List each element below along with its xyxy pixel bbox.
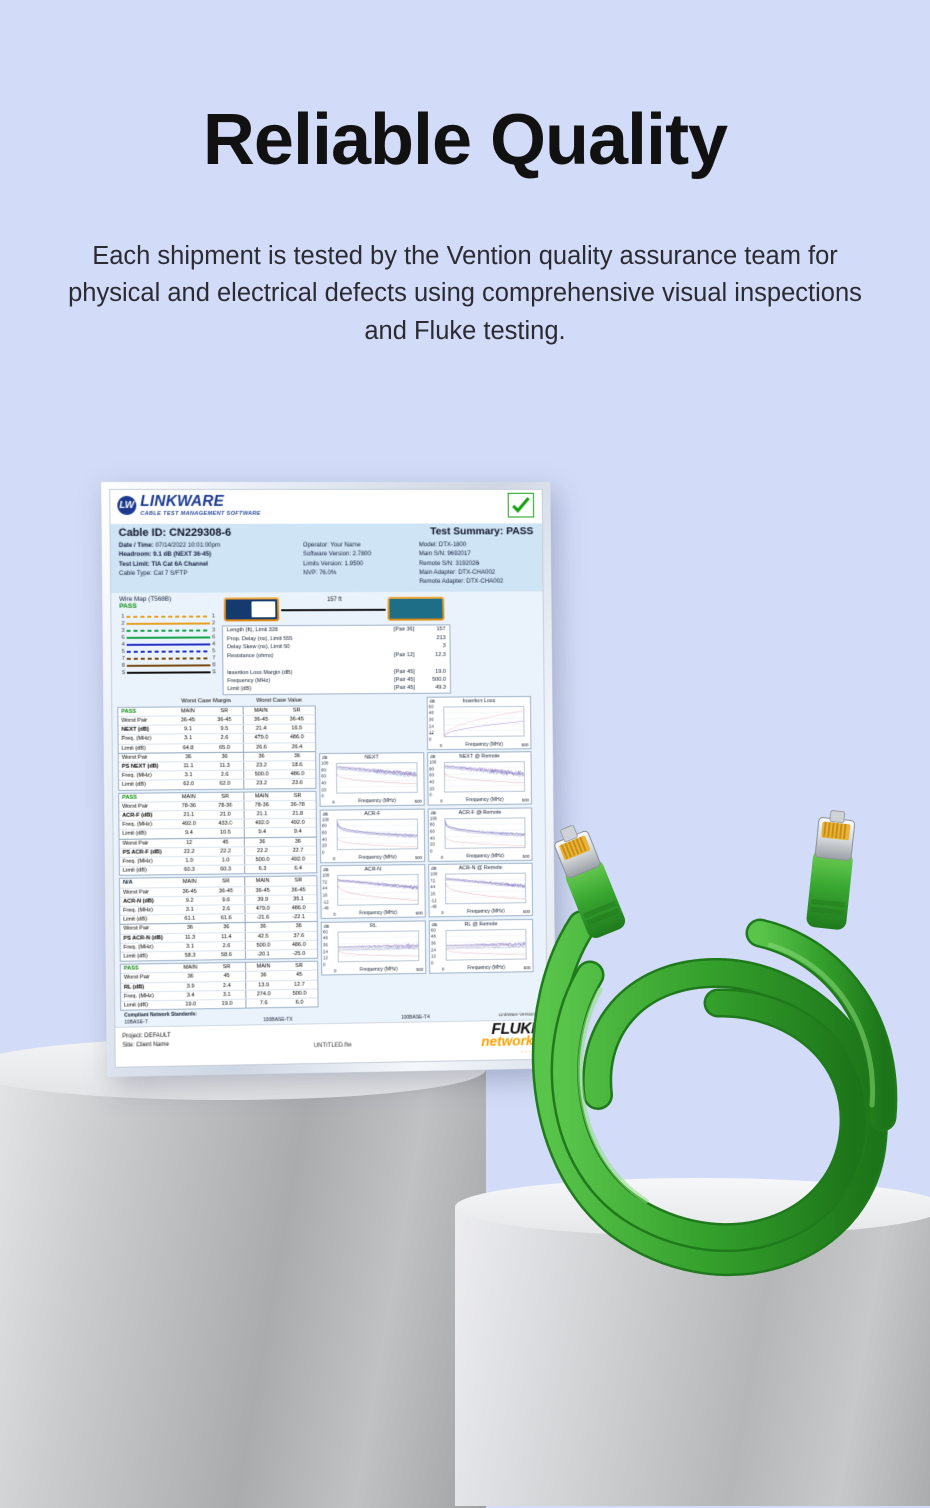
cell-value: 13.9 xyxy=(245,981,281,990)
y-axis-tick: -40 xyxy=(323,906,329,911)
podium-left xyxy=(0,1068,486,1508)
x-axis-tick-min: 0 xyxy=(333,912,335,917)
cell-value: 36 xyxy=(208,923,244,932)
column-header: SR xyxy=(279,791,315,800)
cell-value: 11.4 xyxy=(208,933,244,942)
plot-area xyxy=(336,762,418,794)
cell-value: 61.1 xyxy=(172,915,208,924)
linkware-badge-icon: LW xyxy=(117,496,136,515)
wiremap-pin-left: 3 xyxy=(120,628,127,634)
cell-value: 19.0 xyxy=(209,1000,245,1009)
summary-pair: [Pair 45] xyxy=(381,676,414,685)
chart-title: RL xyxy=(322,922,425,929)
cell-value: 1.0 xyxy=(207,856,243,865)
row-label: ACR-F (dB) xyxy=(119,811,170,820)
x-axis-tick-min: 0 xyxy=(442,966,444,971)
table-row: Limit (dB)64.865.026.626.4 xyxy=(119,742,316,753)
cell-value: 60.3 xyxy=(171,866,207,875)
y-axis-tick: 60 xyxy=(429,773,434,778)
cell-value: -20.1 xyxy=(245,950,281,959)
row-label: Freq. (MHz) xyxy=(119,772,170,781)
link-line xyxy=(281,609,385,611)
cell-value: 492.0 xyxy=(171,820,207,829)
cell-value: -21.6 xyxy=(244,914,280,923)
column-header: SR xyxy=(279,706,315,714)
cell-value: 486.0 xyxy=(280,904,316,913)
cell-value: 23.2 xyxy=(243,761,279,769)
y-axis-tick: -40 xyxy=(431,904,437,909)
wiremap-pin-left: 4 xyxy=(120,642,127,648)
cell-value: 433.0 xyxy=(207,820,243,829)
row-label: Freq. (MHz) xyxy=(121,992,172,1001)
chart-row: dBInsertion Loss01224364860Frequency (MH… xyxy=(319,696,533,751)
row-label: Limit (dB) xyxy=(120,866,171,875)
cell-value: 492.0 xyxy=(280,855,316,864)
y-axis-tick: 60 xyxy=(430,829,435,834)
y-axis-tick: 80 xyxy=(430,822,435,827)
x-axis-tick-max: 500 xyxy=(415,799,422,804)
y-axis-tick: 60 xyxy=(431,927,436,932)
y-axis-tick: 60 xyxy=(322,830,327,835)
x-axis-tick-max: 500 xyxy=(415,855,422,860)
row-label: Freq. (MHz) xyxy=(120,857,171,866)
cell-value: 6.3 xyxy=(244,865,280,874)
row-label: Freq. (MHz) xyxy=(119,735,170,744)
cell-value: 3.4 xyxy=(172,991,208,1000)
table-row: NEXT (dB)9.19.521.416.5 xyxy=(118,723,315,734)
wiremap-segment xyxy=(127,671,211,674)
chart-next: dBNEXT020406080100Frequency (MHz)0500 xyxy=(319,752,425,807)
group-status: PASS xyxy=(118,707,169,716)
wiremap-pin-left: 1 xyxy=(119,614,126,620)
wiremap-segment xyxy=(127,629,211,632)
cell-value: 486.0 xyxy=(281,941,317,950)
y-axis-tick: 80 xyxy=(322,823,327,828)
row-label: Worst Pair xyxy=(118,716,169,725)
cell-value: 22.7 xyxy=(280,846,316,855)
cell-value: 78-36 xyxy=(243,801,279,810)
summary-value: 3 xyxy=(414,642,445,650)
row-label: RL (dB) xyxy=(121,983,172,992)
cell-value: 65.0 xyxy=(206,743,242,751)
cell-value: 62.0 xyxy=(207,780,243,789)
cell-value: 9.6 xyxy=(208,896,244,905)
summary-pair: [Pair 45] xyxy=(381,684,414,693)
meta-label: Test Limit: xyxy=(119,560,150,567)
cell-value: 1.0 xyxy=(171,857,207,866)
row-label: Worst Pair xyxy=(121,973,172,982)
cell-value: 61.6 xyxy=(208,914,244,923)
plot-area xyxy=(337,874,419,906)
x-axis-label: Frequency (MHz) xyxy=(444,797,525,804)
chart-next-remote: dBNEXT @ Remote020406080100Frequency (MH… xyxy=(427,751,532,805)
row-label: PS NEXT (dB) xyxy=(119,762,170,771)
cell-value: 36-45 xyxy=(244,886,280,895)
cell-value: 36 xyxy=(243,752,279,760)
summary-pair: [Pair 45] xyxy=(381,668,414,677)
cell-value: 500.0 xyxy=(245,941,281,950)
ethernet-patch-cable xyxy=(470,855,930,1315)
row-label: Limit (dB) xyxy=(119,781,170,790)
chart-rl: dBRL01224364860Frequency (MHz)0500 xyxy=(321,920,427,975)
column-header: SR xyxy=(281,962,317,971)
cell-value: 21.0 xyxy=(207,810,243,819)
y-axis-tick: 100 xyxy=(322,817,329,822)
y-axis-tick: 72 xyxy=(430,878,435,883)
wiremap-pin-right: 4 xyxy=(210,641,217,647)
summary-pair xyxy=(381,643,414,652)
column-header: MAIN xyxy=(242,706,278,714)
cell-value: 36-45 xyxy=(208,887,244,896)
cell-value: 78-36 xyxy=(207,801,243,810)
linkware-name: LINKWARE xyxy=(140,495,260,510)
test-summary-status: Test Summary: PASS xyxy=(430,525,533,537)
cell-value: 274.0 xyxy=(245,990,281,999)
cell-value: 18.6 xyxy=(279,761,315,769)
cell-value: 36-45 xyxy=(206,716,242,724)
column-header: MAIN xyxy=(245,962,281,971)
meta-value: Cat 7 S/FTP xyxy=(154,570,188,577)
x-axis-tick-min: 0 xyxy=(334,968,336,973)
cell-value: 479.0 xyxy=(244,905,280,914)
cell-value: 39.9 xyxy=(244,895,280,904)
meta-value: 07/14/2022 10:01:00pm xyxy=(155,542,220,549)
group-status: PASS xyxy=(121,964,172,973)
table-row: Freq. (MHz)3.12.6479.0486.0 xyxy=(119,733,316,744)
cell-value: 486.0 xyxy=(279,734,315,742)
y-axis-tick: 40 xyxy=(429,779,434,784)
cell-value: 23.2 xyxy=(243,780,279,789)
cell-value: 3.1 xyxy=(209,991,245,1000)
wiremap-segment xyxy=(126,622,210,625)
cell-value: 58.3 xyxy=(172,951,208,960)
cell-value: 11.3 xyxy=(172,933,208,942)
wiremap-pin-right: 2 xyxy=(210,620,217,626)
cell-value: 3.9 xyxy=(172,982,208,991)
y-axis-tick: 20 xyxy=(322,843,327,848)
cell-value: 36 xyxy=(281,922,317,931)
check-mark-icon xyxy=(508,493,534,518)
column-header: SR xyxy=(206,707,242,715)
cell-value: 3.1 xyxy=(172,942,208,951)
wiremap-segment xyxy=(127,657,211,660)
summary-measurements-table: Length (ft), Limit 328[Pair 36]157Prop. … xyxy=(222,625,451,695)
row-label: Limit (dB) xyxy=(119,744,170,753)
cell-value: 36 xyxy=(244,923,280,932)
report-info-band: Cable ID: CN229308-6 Test Summary: PASS … xyxy=(111,523,543,593)
x-axis-tick-max: 500 xyxy=(416,911,423,916)
cell-value: 9.5 xyxy=(206,725,242,733)
results-group: PASSMAINSRMAINSRWorst Pair78-3678-3678-3… xyxy=(118,790,317,876)
y-axis-tick: 12 xyxy=(431,954,436,959)
results-top-header: Worst Case MarginWorst Case Value xyxy=(117,697,315,704)
cell-value: 500.0 xyxy=(281,989,317,998)
y-axis-tick: 100 xyxy=(430,872,437,877)
wiremap-pin-right: 5 xyxy=(210,648,217,654)
summary-pair xyxy=(381,634,414,642)
wiremap-pin-left: 6 xyxy=(120,635,127,641)
row-label: Worst Pair xyxy=(120,888,171,897)
x-axis-tick-min: 0 xyxy=(332,800,334,805)
column-header: MAIN xyxy=(244,877,280,886)
cell-value: 486.0 xyxy=(279,770,315,778)
column-header: SR xyxy=(207,792,243,801)
report-header: LW LINKWARE CABLE TEST MANAGEMENT SOFTWA… xyxy=(110,490,542,524)
wiremap-pin-right: 7 xyxy=(210,655,217,661)
cell-value: 36-78 xyxy=(279,801,315,810)
y-axis-tick: -12 xyxy=(430,898,436,903)
wiremap-segment xyxy=(127,664,211,667)
rj45-plug-right xyxy=(806,809,858,931)
plot-area xyxy=(338,930,420,962)
y-axis-tick: 0 xyxy=(323,962,325,967)
cell-value: 9.2 xyxy=(171,896,207,905)
summary-value: 49.3 xyxy=(415,684,446,693)
y-axis-tick: -12 xyxy=(322,899,328,904)
chart-title: ACR-F xyxy=(321,810,424,817)
y-axis-tick: 60 xyxy=(321,774,326,779)
summary-value: 213 xyxy=(414,634,445,642)
y-axis-tick: 12 xyxy=(323,955,328,960)
cell-value: 62.0 xyxy=(170,780,206,789)
cell-value: 6.0 xyxy=(281,998,317,1007)
cell-value: 492.0 xyxy=(243,819,279,828)
cell-value: 2.6 xyxy=(206,734,242,742)
cell-value: 26.6 xyxy=(243,743,279,751)
meta-item: Remote S/N: 3192026 xyxy=(419,558,535,567)
y-axis-tick: 36 xyxy=(429,717,434,722)
row-label: Limit (dB) xyxy=(119,830,170,839)
cell-value: 36 xyxy=(244,838,280,847)
cell-value: 3.1 xyxy=(172,906,208,915)
y-axis-tick: 48 xyxy=(323,936,328,941)
x-axis-tick-min: 0 xyxy=(441,855,443,860)
cell-value: 45 xyxy=(281,971,317,980)
rj45-plug-left xyxy=(548,820,628,941)
x-axis-tick-max: 500 xyxy=(521,742,528,747)
link-diagram: 157 ft xyxy=(220,595,449,626)
wiremap-pin-left: 7 xyxy=(120,656,127,662)
cell-value: 12 xyxy=(171,838,207,847)
cell-value: 26.4 xyxy=(279,743,315,751)
worst-case-value-header: Worst Case Value xyxy=(242,697,315,703)
summary-label: Limit (dB) xyxy=(228,684,382,693)
plot-area xyxy=(443,706,524,737)
y-axis-tick: 40 xyxy=(322,836,327,841)
plot-area xyxy=(336,818,418,850)
cell-value: 3.1 xyxy=(170,735,206,743)
y-axis-tick: 48 xyxy=(431,934,436,939)
summary-value: 19.0 xyxy=(415,667,446,676)
cell-value: 22.2 xyxy=(207,847,243,856)
chart-row: dBNEXT020406080100Frequency (MHz)0500dBN… xyxy=(319,751,533,807)
y-axis-tick: 100 xyxy=(429,760,436,765)
wiremap-diagram: 1122336644557788SS xyxy=(116,610,220,676)
results-group: N/AMAINSRMAINSRWorst Pair36-4536-4536-45… xyxy=(119,876,318,962)
cell-value: 492.0 xyxy=(280,819,316,828)
x-axis-label: Frequency (MHz) xyxy=(338,966,420,973)
chart-acr-f-remote: dBACR-F @ Remote020406080100Frequency (M… xyxy=(428,807,533,862)
y-axis-tick: 20 xyxy=(321,787,326,792)
y-axis-tick: 12 xyxy=(429,730,434,735)
hero-section: Reliable Quality Each shipment is tested… xyxy=(0,0,930,350)
plot-area xyxy=(444,761,525,792)
summary-value: 12.3 xyxy=(414,651,445,659)
y-axis-tick: 80 xyxy=(321,767,326,772)
wiremap-segment xyxy=(127,650,211,653)
cell-value: 479.0 xyxy=(243,734,279,742)
cell-value: 58.6 xyxy=(208,951,244,960)
meta-item: Model: DTX-1800 xyxy=(419,540,535,549)
column-header: SR xyxy=(280,877,316,886)
y-axis-tick: 72 xyxy=(322,879,327,884)
cell-value: 22.2 xyxy=(244,847,280,856)
column-header: SR xyxy=(208,963,244,972)
cell-value: 7.6 xyxy=(245,999,281,1008)
row-label: Worst Pair xyxy=(120,924,171,933)
cell-value: 21.1 xyxy=(171,811,207,820)
cell-value: 36 xyxy=(245,972,281,981)
cell-value: 2.4 xyxy=(209,981,245,990)
cell-value: 10.5 xyxy=(207,829,243,838)
cell-value: 11.1 xyxy=(170,762,206,771)
cell-value: 35.1 xyxy=(280,895,316,904)
column-header: MAIN xyxy=(243,792,279,801)
chart-row-spacer xyxy=(319,696,425,750)
column-header: MAIN xyxy=(171,878,207,887)
summary-value: 500.0 xyxy=(415,676,446,685)
y-axis-tick: 24 xyxy=(429,723,434,728)
row-label: Freq. (MHz) xyxy=(119,820,170,829)
y-axis-tick: 24 xyxy=(431,947,436,952)
chart-title: ACR-F @ Remote xyxy=(429,809,531,816)
wiremap-segment xyxy=(127,636,211,639)
summary-pair: [Pair 12] xyxy=(381,651,414,660)
cell-value: 36-45 xyxy=(279,715,315,723)
table-row: Worst Pair36-4536-4536-4536-45 xyxy=(118,714,315,725)
wiremap-pin-left: S xyxy=(120,670,127,676)
y-axis-tick: 0 xyxy=(429,737,431,742)
table-row: PS NEXT (dB)11.111.323.218.6 xyxy=(119,760,316,771)
cell-value: 36 xyxy=(280,837,316,846)
summary-pair xyxy=(381,659,414,668)
cell-value: 42.5 xyxy=(244,932,280,941)
cell-value: 19.0 xyxy=(172,1000,208,1009)
wiremap-pin-right: 6 xyxy=(210,634,217,640)
cell-value: -22.1 xyxy=(281,913,317,922)
y-axis-tick: 48 xyxy=(429,710,434,715)
wiremap-pin-right: 8 xyxy=(210,662,217,668)
wiremap-segment xyxy=(127,643,211,646)
wiremap-pin-right: S xyxy=(211,669,218,675)
cell-value: 500.0 xyxy=(244,856,280,865)
x-axis-tick-min: 0 xyxy=(333,856,335,861)
y-axis-tick: 100 xyxy=(321,761,328,766)
cell-value: 78-36 xyxy=(171,802,207,811)
cell-value: 21.4 xyxy=(243,725,279,733)
row-label: Worst Pair xyxy=(119,753,170,762)
column-header: MAIN xyxy=(172,964,208,973)
meta-value: TIA Cat 6A Channel xyxy=(151,560,208,567)
wiremap-pin-right: 1 xyxy=(210,613,217,619)
meta-item: NVP: 76.0% xyxy=(303,568,415,578)
meta-label: Cable Type: xyxy=(119,570,152,577)
cell-value: 6.4 xyxy=(280,865,316,874)
cell-value: 36-45 xyxy=(171,887,207,896)
cell-value: 45 xyxy=(207,838,243,847)
column-header: SR xyxy=(208,878,244,887)
y-axis-tick: 0 xyxy=(321,794,323,799)
cell-value: 36 xyxy=(170,753,206,762)
y-axis-tick: 16 xyxy=(322,893,327,898)
wiremap-pin-left: 5 xyxy=(120,649,127,655)
wiremap-segment xyxy=(126,615,210,618)
row-label: Freq. (MHz) xyxy=(121,943,172,952)
cell-value: 3.1 xyxy=(170,771,206,780)
y-axis-tick: 100 xyxy=(430,816,437,821)
cell-value: 36-45 xyxy=(242,716,278,724)
meta-item: Main Adapter: DTX-CHA002 xyxy=(419,568,535,578)
chart-insertion-loss: dBInsertion Loss01224364860Frequency (MH… xyxy=(427,696,532,750)
cell-value: 2.6 xyxy=(208,905,244,914)
y-axis-tick: 0 xyxy=(429,792,431,797)
summary-pair: [Pair 36] xyxy=(381,626,414,634)
row-label: PS ACR-N (dB) xyxy=(120,934,171,943)
x-axis-tick-max: 500 xyxy=(522,798,529,803)
table-row: Worst Pair36363636 xyxy=(119,751,316,762)
remote-tester-icon xyxy=(387,597,444,621)
chart-title: ACR-N xyxy=(321,866,424,873)
chart-acr-n: dBACR-N-40-12164472100Frequency (MHz)050… xyxy=(320,864,426,919)
x-axis-label: Frequency (MHz) xyxy=(336,798,418,805)
y-axis-tick: 100 xyxy=(322,873,329,878)
cell-value: 2.6 xyxy=(207,771,243,780)
cell-value: 16.5 xyxy=(279,724,315,732)
cell-value: 45 xyxy=(209,972,245,981)
y-axis-tick: 40 xyxy=(430,835,435,840)
meta-column-mid: Operator: Your Name Software Version: 2.… xyxy=(303,540,415,586)
meta-label: Headroom: xyxy=(119,551,152,558)
cell-value: 9.4 xyxy=(244,828,280,837)
page-title: Reliable Quality xyxy=(0,104,930,176)
row-label: NEXT (dB) xyxy=(118,726,169,735)
x-axis-tick-max: 500 xyxy=(416,967,423,972)
chart-title: Insertion Loss xyxy=(428,698,530,705)
wiremap-pin-left: 8 xyxy=(120,663,127,669)
x-axis-label: Frequency (MHz) xyxy=(444,741,525,748)
meta-column-right: Model: DTX-1800 Main S/N: 9692017 Remote… xyxy=(415,540,535,586)
chart-title: NEXT xyxy=(320,754,423,761)
meta-item: Main S/N: 9692017 xyxy=(419,549,535,558)
y-axis-tick: 44 xyxy=(430,885,435,890)
cell-value: 36 xyxy=(172,924,208,933)
x-axis-tick-min: 0 xyxy=(440,743,442,748)
meta-item: Software Version: 2.7800 xyxy=(303,550,415,559)
cell-value: 9.4 xyxy=(280,828,316,837)
column-header: MAIN xyxy=(170,707,206,715)
cell-value: 36-45 xyxy=(280,886,316,895)
x-axis-label: Frequency (MHz) xyxy=(337,910,419,917)
y-axis-tick: 44 xyxy=(322,886,327,891)
y-axis-tick: 20 xyxy=(430,842,435,847)
wiremap-pin-left: 2 xyxy=(119,621,126,627)
cell-value: 9.1 xyxy=(170,725,206,733)
y-axis-tick: 80 xyxy=(429,766,434,771)
x-axis-label: Frequency (MHz) xyxy=(337,854,419,861)
cell-value: 2.6 xyxy=(208,942,244,951)
summary-row: Limit (dB)[Pair 45]49.3 xyxy=(224,684,450,694)
y-axis-tick: 24 xyxy=(323,949,328,954)
